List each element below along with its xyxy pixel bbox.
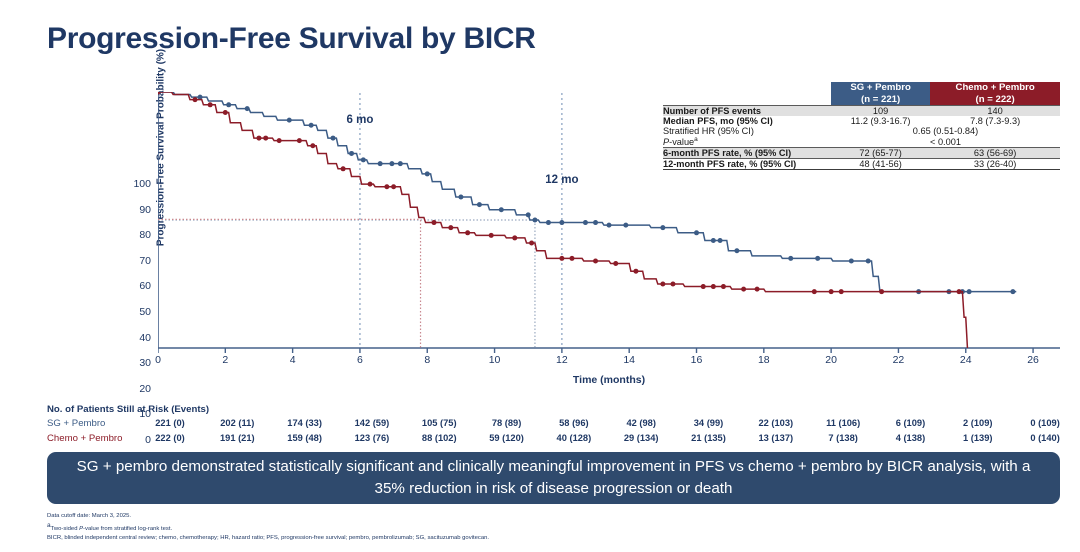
results-row-label: Median PFS, mo (95% CI): [663, 116, 831, 126]
footnote-line-2-post: -value from stratified log-rank test.: [83, 526, 172, 532]
y-tick-80: 80: [139, 229, 151, 241]
results-header-sg-n: (n = 221): [861, 94, 900, 105]
y-tick-60: 60: [139, 280, 151, 292]
x-tick-26: 26: [1027, 354, 1039, 366]
results-row-value: < 0.001: [831, 136, 1060, 148]
risk-table-rows: SG + Pembro221 (0)202 (11)174 (33)142 (5…: [47, 418, 1060, 448]
y-tick-20: 20: [139, 383, 151, 395]
x-axis-label: Time (months): [158, 374, 1060, 386]
risk-cell: 29 (134): [624, 433, 659, 443]
results-header-blank: [663, 82, 831, 106]
risk-cell: 1 (139): [963, 433, 992, 443]
x-tick-6: 6: [357, 354, 363, 366]
risk-cell: 59 (120): [489, 433, 524, 443]
x-tick-8: 8: [424, 354, 430, 366]
results-table-row: 12-month PFS rate, % (95% CI)48 (41-56)3…: [663, 159, 1060, 170]
x-tick-14: 14: [623, 354, 635, 366]
results-row-label: Stratified HR (95% CI): [663, 126, 831, 136]
risk-cell: 11 (106): [826, 418, 860, 428]
results-table-header: SG + Pembro (n = 221) Chemo + Pembro (n …: [663, 82, 1060, 106]
results-row-value: 11.2 (9.3-16.7): [831, 116, 930, 126]
footnote-line-2: aTwo-sided P-value from stratified log-r…: [47, 521, 1047, 534]
annotation-6-mo: 6 mo: [347, 114, 374, 126]
results-header-chemo-n: (n = 222): [976, 94, 1015, 105]
risk-cell: 105 (75): [422, 418, 457, 428]
results-row-value: 63 (56-69): [930, 148, 1060, 159]
risk-cell: 0 (140): [1030, 433, 1059, 443]
risk-cell: 2 (109): [963, 418, 992, 428]
page-title: Progression-Free Survival by BICR: [47, 22, 536, 56]
risk-cell: 7 (138): [828, 433, 857, 443]
risk-table: No. of Patients Still at Risk (Events) S…: [47, 404, 1060, 448]
risk-row-label: Chemo + Pembro: [47, 433, 122, 444]
results-table-row: 6-month PFS rate, % (95% CI)72 (65-77)63…: [663, 148, 1060, 159]
risk-cell: 22 (103): [758, 418, 793, 428]
risk-row-label: SG + Pembro: [47, 418, 105, 429]
results-row-superscript: a: [694, 136, 698, 143]
results-row-label: 6-month PFS rate, % (95% CI): [663, 148, 831, 159]
annotation-12-mo: 12 mo: [545, 174, 578, 186]
x-tick-10: 10: [489, 354, 501, 366]
risk-table-row: SG + Pembro221 (0)202 (11)174 (33)142 (5…: [47, 418, 1060, 433]
y-tick-70: 70: [139, 255, 151, 267]
results-row-value: 0.65 (0.51-0.84): [831, 126, 1060, 136]
risk-table-title: No. of Patients Still at Risk (Events): [47, 404, 1060, 415]
y-tick-90: 90: [139, 204, 151, 216]
results-table-row: Stratified HR (95% CI)0.65 (0.51-0.84): [663, 126, 1060, 136]
risk-cell: 142 (59): [355, 418, 390, 428]
results-row-value: 72 (65-77): [831, 148, 930, 159]
results-table-row: Median PFS, mo (95% CI)11.2 (9.3-16.7)7.…: [663, 116, 1060, 126]
footnotes: Data cutoff date: March 3, 2025. aTwo-si…: [47, 512, 1047, 543]
results-row-label: Number of PFS events: [663, 106, 831, 117]
risk-cell: 202 (11): [220, 418, 254, 428]
x-tick-2: 2: [222, 354, 228, 366]
results-header-chemo: Chemo + Pembro (n = 222): [930, 82, 1060, 106]
results-row-value: 33 (26-40): [930, 159, 1060, 170]
risk-cell: 21 (135): [691, 433, 726, 443]
x-tick-4: 4: [290, 354, 296, 366]
risk-cell: 88 (102): [422, 433, 457, 443]
x-tick-0: 0: [155, 354, 161, 366]
risk-cell: 4 (138): [896, 433, 925, 443]
results-row-value: 48 (41-56): [831, 159, 930, 170]
footnote-line-2-pre: Two-sided: [51, 526, 79, 532]
y-tick-50: 50: [139, 306, 151, 318]
y-tick-30: 30: [139, 357, 151, 369]
slide-root: Progression-Free Survival by BICR Progre…: [0, 0, 1080, 552]
risk-cell: 159 (48): [287, 433, 322, 443]
risk-cell: 13 (137): [758, 433, 793, 443]
footnote-line-1: Data cutoff date: March 3, 2025.: [47, 512, 1047, 521]
risk-cell: 221 (0): [155, 418, 184, 428]
conclusion-banner-text: SG + pembro demonstrated statistically s…: [65, 456, 1042, 500]
x-tick-12: 12: [556, 354, 568, 366]
risk-cell: 191 (21): [220, 433, 255, 443]
risk-cell: 123 (76): [355, 433, 390, 443]
risk-cell: 0 (109): [1030, 418, 1059, 428]
risk-cell: 42 (98): [626, 418, 655, 428]
x-tick-18: 18: [758, 354, 770, 366]
x-tick-24: 24: [960, 354, 972, 366]
results-row-label: 12-month PFS rate, % (95% CI): [663, 159, 831, 170]
results-row-value: 109: [831, 106, 930, 117]
results-row-value: 140: [930, 106, 1060, 117]
y-tick-100: 100: [133, 178, 151, 190]
y-tick-40: 40: [139, 332, 151, 344]
results-row-label: P-valuea: [663, 136, 831, 148]
risk-cell: 58 (96): [559, 418, 588, 428]
results-table: SG + Pembro (n = 221) Chemo + Pembro (n …: [663, 82, 1060, 170]
results-table-row: P-valuea< 0.001: [663, 136, 1060, 148]
risk-cell: 78 (89): [492, 418, 521, 428]
risk-cell: 174 (33): [287, 418, 322, 428]
results-header-sg: SG + Pembro (n = 221): [831, 82, 930, 106]
x-tick-20: 20: [825, 354, 837, 366]
results-table-row: Number of PFS events109140: [663, 106, 1060, 117]
risk-cell: 6 (109): [896, 418, 925, 428]
conclusion-banner: SG + pembro demonstrated statistically s…: [47, 452, 1060, 504]
results-header-sg-label: SG + Pembro: [850, 82, 911, 93]
risk-cell: 34 (99): [694, 418, 723, 428]
risk-cell: 222 (0): [155, 433, 184, 443]
results-table-body: Number of PFS events109140Median PFS, mo…: [663, 106, 1060, 170]
x-tick-22: 22: [893, 354, 905, 366]
results-header-chemo-label: Chemo + Pembro: [956, 82, 1035, 93]
results-row-value: 7.8 (7.3-9.3): [930, 116, 1060, 126]
risk-cell: 40 (128): [557, 433, 592, 443]
footnote-line-3: BICR, blinded independent central review…: [47, 534, 1047, 543]
risk-table-row: Chemo + Pembro222 (0)191 (21)159 (48)123…: [47, 433, 1060, 448]
x-tick-16: 16: [691, 354, 703, 366]
